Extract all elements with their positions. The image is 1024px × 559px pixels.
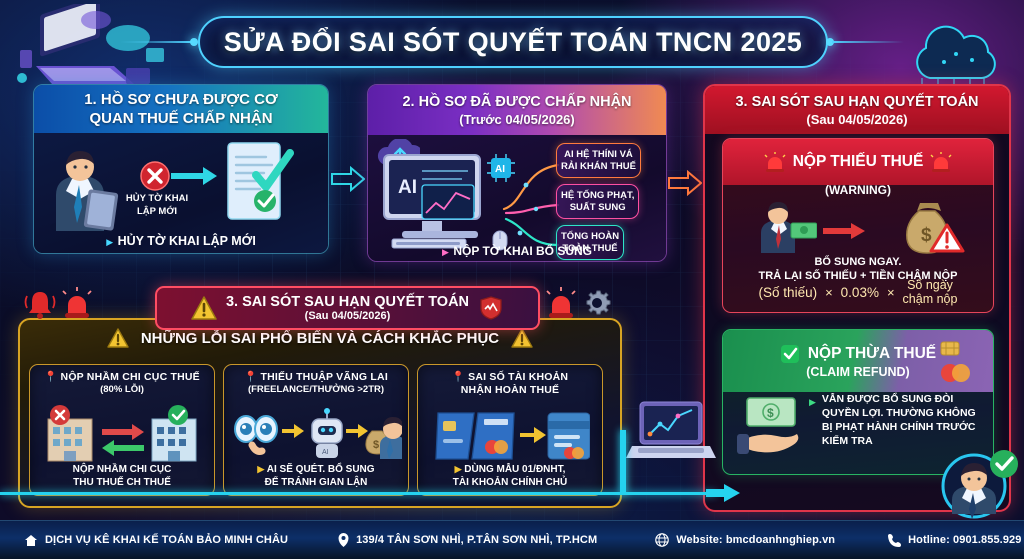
mistake-card-3-footer-line2: TÀI KHOẢN CHÍNH CHỦ [418, 477, 602, 490]
broken-card-icon [436, 413, 514, 459]
bullet-icon: ▶ [809, 395, 816, 409]
footer-item-website[interactable]: Website: bmcdoanhnghiep.vn [655, 533, 835, 547]
neon-connector-vertical [620, 430, 626, 494]
panel-2-title-line2: (Trước 04/05/2026) [459, 111, 575, 128]
title-left-line [120, 41, 192, 43]
mistake-card-1-title-line1: 📍 NỘP NHẦM CHI CỤC THUẾ [34, 371, 210, 384]
gear-icon [582, 288, 612, 318]
panel-1-action-text: HỦY TỜ KHAI LẬP MỚI [118, 234, 256, 248]
arrow-step1-to-step2-icon [331, 166, 365, 192]
warning-triangle-icon [191, 296, 217, 320]
panel-2-chip-1[interactable]: AI HỆ THÍNI VÁRẢI KHÁN THUẾ [556, 143, 641, 178]
infographic-canvas: SỬA ĐỔI SAI SÓT QUYẾT TOÁN TNCN 2025 1. … [0, 0, 1024, 559]
mistake-card-2-footer-line2: ĐỂ TRÁNH GIAN LẬN [224, 477, 408, 490]
alarm-icon-group [24, 286, 93, 320]
mistake-card-3-title-text: SAI SỐ TÀI KHOẢN [468, 371, 568, 383]
late-deadline-banner-text: 3. SAI SÓT SAU HẠN QUYẾT TOÁN (Sau 04/05… [226, 294, 469, 322]
phone-icon [887, 533, 901, 547]
robot-icon: AI [312, 408, 342, 458]
panel-1-title-line1: 1. HỒ SƠ CHƯA ĐƯỢC CƠ [84, 90, 278, 109]
mistake-card-2-footer-text1: AI SẼ QUÉT. BỔ SUNG [267, 464, 375, 475]
mistake-card-1[interactable]: 📍 NỘP NHẦM CHI CỤC THUẾ (80% LỖI) [29, 364, 215, 496]
banner-title-line1: 3. SAI SÓT SAU HẠN QUYẾT TOÁN [226, 294, 469, 310]
refund-note: ▶ VẪN ĐƯỢC BỔ SUNG ĐÒI QUYỀN LỢI. THƯỜNG… [809, 392, 985, 448]
footer-address-text: 139/4 TÂN SƠN NHÌ, P.TÂN SƠN NHÌ, TP.HCM [356, 534, 597, 546]
isometric-laptop-illustration [6, 4, 176, 96]
mistake-card-1-title-line2: (80% LỖI) [34, 384, 210, 396]
refund-heading-row: NỘP THỪA THUẾ [780, 344, 936, 364]
siren-icon [764, 151, 786, 173]
underpayment-warning-card[interactable]: NỘP THIẾU THUẾ (WARNING) [722, 138, 994, 313]
footer-item-hotline[interactable]: Hotline: 0901.855.929 [887, 533, 1021, 547]
warning-triangle-icon [511, 328, 533, 348]
banner-title-line2: (Sau 04/05/2026) [226, 310, 469, 322]
mistake-card-3-footer-text1: DÙNG MẪU 01/ĐNHT, [464, 464, 565, 475]
verified-avatar [934, 448, 1020, 526]
mistake-card-2-title: 📍 THIẾU THUẬP VÃNG LAI (FREELANCE/THƯỞNG… [224, 365, 408, 396]
formula-term-2: Số ngày chậm nộp [903, 278, 958, 306]
hand-money-icon: $ [737, 396, 811, 456]
bullet-icon: ▶ [106, 237, 113, 247]
panel-2-chip-1-line2: RẢI KHÁN THUẾ [561, 161, 636, 173]
footer-item-company[interactable]: DỊCH VỤ KÊ KHAI KẾ TOÁN BẢO MINH CHÂU [24, 534, 288, 547]
panel-2-chip-2-line2: SUẤT SUNG [561, 202, 634, 214]
refund-note-line3: BỊ PHẠT HÀNH CHÍNH TRƯỚC [822, 420, 976, 434]
mistake-card-3-footer: ▶ DÙNG MẪU 01/ĐNHT, TÀI KHOẢN CHÍNH CHỦ [418, 463, 602, 489]
bullet-icon: ▶ [257, 464, 264, 474]
warning-triangle-icon [107, 328, 129, 348]
refund-note-line2: QUYỀN LỢI. THƯỜNG KHÔNG [822, 406, 976, 420]
pin-icon: 📍 [452, 371, 465, 383]
mistake-card-1-footer-line2: THU THUẾ CH THUẾ [30, 477, 214, 490]
panel-2-header: 2. HỒ SƠ ĐÃ ĐƯỢC CHẤP NHẬN (Trước 04/05/… [368, 85, 666, 135]
mistake-card-2-title-text: THIẾU THUẬP VÃNG LAI [260, 371, 387, 383]
formula-term-2-line1: Số ngày [903, 278, 958, 292]
panel-1-inner-label: HỦY TỜ KHAI LẬP MỚI [120, 193, 194, 218]
panel-3-header: 3. SAI SÓT SAU HẠN QUYẾT TOÁN (Sau 04/05… [705, 86, 1009, 134]
panel-1-body: HỦY TỜ KHAI LẬP MỚI ▶ HỦY TỜ KHAI LẬP MỚ… [34, 133, 328, 254]
refund-heading: NỘP THỪA THUẾ [808, 345, 936, 363]
refund-note-line1: VẪN ĐƯỢC BỔ SUNG ĐÒI [822, 392, 976, 406]
svg-text:$: $ [921, 225, 932, 246]
underpayment-subheading: (WARNING) [723, 183, 993, 197]
footer-website-text: Website: bmcdoanhnghiep.vn [676, 534, 835, 546]
laptop-chart-icon [626, 398, 724, 468]
underpayment-heading: NỘP THIẾU THUẾ [793, 153, 924, 171]
mistake-card-1-footer-line1: NỘP NHẦM CHI CỤC [30, 464, 214, 477]
panel-3-title-line1: 3. SAI SÓT SAU HẠN QUYẾT TOÁN [735, 93, 978, 111]
mistake-card-3-title-line1: 📍 SAI SỐ TÀI KHOẢN [422, 371, 598, 384]
card-icon [548, 413, 590, 459]
formula-term-1: (Số thiếu) [759, 285, 818, 300]
footer-bar: DỊCH VỤ KÊ KHAI KẾ TOÁN BẢO MINH CHÂU 13… [0, 520, 1024, 559]
money-bag-icon: $ [899, 197, 969, 255]
panel-1-action: ▶ HỦY TỜ KHAI LẬP MỚI [34, 232, 328, 250]
arrow-right-icon [823, 223, 865, 239]
mistake-card-1-title-text: NỘP NHẦM CHI CỤC THUẾ [61, 371, 200, 383]
shield-alert-icon [478, 295, 504, 321]
mistake-card-3-title: 📍 SAI SỐ TÀI KHOẢN NHẬN HOÀN THUẾ [418, 365, 602, 397]
panel-1-inner-label-line1: HỦY TỜ KHAI [120, 193, 194, 206]
panel-step-2[interactable]: 2. HỒ SƠ ĐÃ ĐƯỢC CHẤP NHẬN (Trước 04/05/… [367, 84, 667, 262]
panel-1-title-line2: QUAN THUẾ CHẤP NHẬN [89, 109, 272, 128]
ai-scan-illustration: AI $ [232, 401, 402, 463]
svg-text:AI: AI [322, 449, 329, 456]
document-check-icon [220, 139, 294, 227]
panel-1-inner-label-line2: LẬP MỚI [120, 206, 194, 219]
red-x-icon [140, 161, 170, 191]
title-left-dot [190, 38, 198, 46]
panel-1-header: 1. HỒ SƠ CHƯA ĐƯỢC CƠ QUAN THUẾ CHẤP NHẬ… [34, 85, 328, 133]
buildings-swap-illustration [40, 403, 206, 463]
mistake-card-2-footer-line1: ▶ AI SẼ QUÉT. BỔ SUNG [224, 463, 408, 477]
panel-2-body: AI AI [368, 135, 666, 262]
formula-operator-1: × [825, 285, 833, 300]
mistake-card-2-title-line2: (FREELANCE/THƯỞNG >2TR) [228, 384, 404, 396]
panel-2-chip-3-line1: TỔNG HOÀN [561, 231, 619, 243]
arrow-step2-to-step3-icon [668, 170, 702, 196]
mistake-card-2-title-line1: 📍 THIẾU THUẬP VÃNG LAI [228, 371, 404, 384]
pin-icon [338, 533, 349, 547]
arrow-right-icon [171, 167, 217, 185]
mistake-card-2[interactable]: 📍 THIẾU THUẬP VÃNG LAI (FREELANCE/THƯỞNG… [223, 364, 409, 496]
bell-icon [24, 286, 56, 320]
late-payment-formula: (Số thiếu) × 0.03% × Số ngày chậm nộp [723, 278, 993, 306]
ai-monitor-icon: AI [378, 149, 503, 253]
common-mistakes-panel[interactable]: NHỮNG LỖI SAI PHỔ BIẾN VÀ CÁCH KHẮC PHỤC… [18, 318, 622, 508]
panel-2-chip-2-line1: HỆ TỐNG PHẠT, [561, 190, 634, 202]
bullet-icon: ▶ [442, 247, 449, 257]
panel-2-chip-2[interactable]: HỆ TỐNG PHẠT,SUẤT SUNG [556, 184, 639, 219]
page-title-text: SỬA ĐỔI SAI SÓT QUYẾT TOÁN TNCN 2025 [224, 27, 802, 58]
green-check-icon [780, 344, 800, 364]
refund-note-line4: KIỂM TRA [822, 434, 976, 448]
panel-step-1[interactable]: 1. HỒ SƠ CHƯA ĐƯỢC CƠ QUAN THUẾ CHẤP NHẬ… [33, 84, 329, 254]
mistake-card-3-title-line2: NHẬN HOÀN THUẾ [422, 384, 598, 397]
siren-icon [545, 286, 577, 320]
siren-icon [61, 286, 93, 320]
panel-3-title-line2: (Sau 04/05/2026) [806, 111, 907, 128]
bullet-icon: ▶ [455, 464, 462, 474]
person-tablet-icon [42, 139, 120, 231]
mistake-card-2-footer: ▶ AI SẼ QUÉT. BỔ SUNG ĐỂ TRÁNH GIAN LẬN [224, 463, 408, 489]
panel-2-action: ▶ NỘP TỜ KHAI BỔ SUNG [368, 242, 666, 260]
underpayment-note-line1: BỔ SUNG NGAY. [723, 255, 993, 269]
svg-text:$: $ [373, 439, 379, 451]
siren-icon [930, 151, 952, 173]
footer-hotline-text: Hotline: 0901.855.929 [908, 534, 1021, 546]
common-mistakes-subtitle: NHỮNG LỖI SAI PHỔ BIẾN VÀ CÁCH KHẮC PHỤC [141, 330, 499, 347]
refund-subheading: (CLAIM REFUND) [806, 365, 909, 379]
home-icon [24, 534, 38, 547]
page-title: SỬA ĐỔI SAI SÓT QUYẾT TOÁN TNCN 2025 [198, 16, 828, 68]
alarm-gear-group [545, 286, 612, 320]
pin-icon: 📍 [244, 371, 257, 383]
person-cash-icon [751, 201, 817, 253]
svg-text:AI: AI [398, 177, 417, 198]
panel-2-action-text: NỘP TỜ KHAI BỔ SUNG [453, 244, 592, 258]
footer-item-address[interactable]: 139/4 TÂN SƠN NHÌ, P.TÂN SƠN NHÌ, TP.HCM [338, 533, 597, 547]
eyes-icon [235, 416, 277, 451]
formula-operator-2: × [887, 285, 895, 300]
mistake-card-1-footer: NỘP NHẦM CHI CỤC THU THUẾ CH THUẾ [30, 464, 214, 489]
footer-company-text: DỊCH VỤ KÊ KHAI KẾ TOÁN BẢO MINH CHÂU [45, 534, 288, 546]
globe-icon [655, 533, 669, 547]
credit-card-icon [937, 340, 981, 384]
mistake-card-3[interactable]: 📍 SAI SỐ TÀI KHOẢN NHẬN HOÀN THUẾ [417, 364, 603, 496]
underpayment-card-header: NỘP THIẾU THUẾ [723, 139, 993, 185]
formula-term-2-line2: chậm nộp [903, 292, 958, 306]
mistake-card-3-footer-line1: ▶ DÙNG MẪU 01/ĐNHT, [418, 463, 602, 477]
pin-icon: 📍 [44, 371, 57, 383]
refund-card-header: NỘP THỪA THUẾ (CLAIM REFUND) [723, 330, 993, 392]
svg-text:$: $ [767, 406, 774, 420]
panel-2-title-line1: 2. HỒ SƠ ĐÃ ĐƯỢC CHẤP NHẬN [402, 93, 631, 111]
panel-2-chip-1-line1: AI HỆ THÍNI VÁ [561, 149, 636, 161]
card-replacement-illustration [434, 405, 590, 463]
late-deadline-banner[interactable]: 3. SAI SÓT SAU HẠN QUYẾT TOÁN (Sau 04/05… [155, 286, 540, 330]
neon-connector-horizontal [0, 492, 716, 495]
mistake-card-1-title: 📍 NỘP NHẦM CHI CỤC THUẾ (80% LỖI) [30, 365, 214, 396]
arrow-to-avatar-icon [706, 482, 742, 506]
title-right-line [832, 41, 904, 43]
formula-rate: 0.03% [841, 285, 879, 300]
